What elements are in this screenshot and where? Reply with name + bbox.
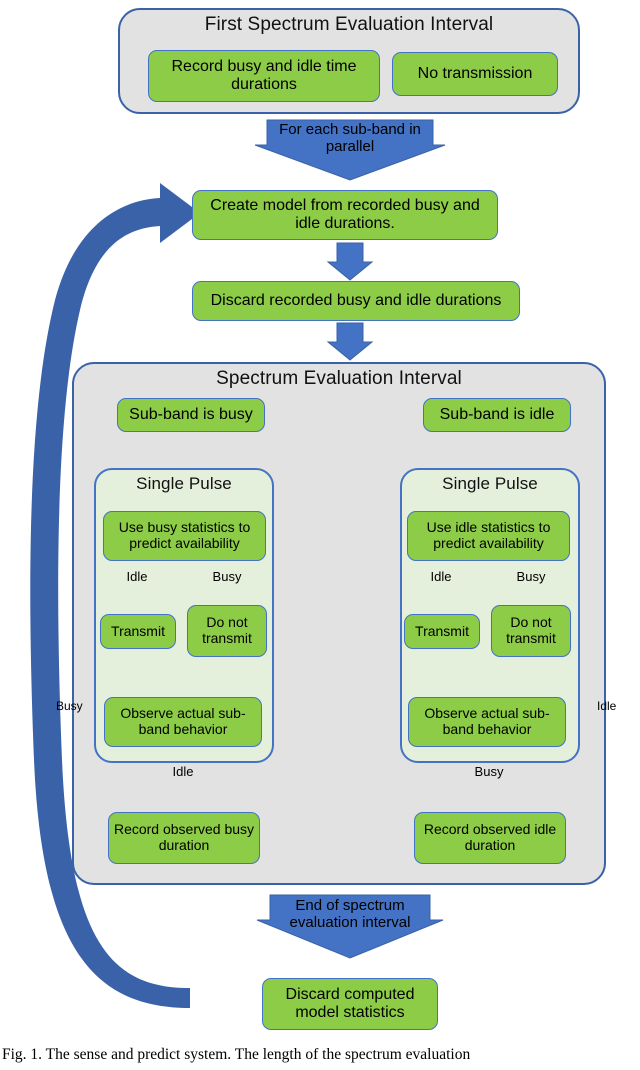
- subband-is-busy-box[interactable]: Sub-band is busy: [117, 398, 265, 432]
- busy-single-pulse-title: Single Pulse: [94, 474, 274, 494]
- for-each-subband-block-arrow: [255, 120, 445, 180]
- first-interval-title: First Spectrum Evaluation Interval: [118, 14, 580, 36]
- end-of-interval-label: End of spectrum evaluation interval: [266, 898, 434, 932]
- arrow-create-to-discard: [328, 243, 372, 280]
- use-idle-statistics-box[interactable]: Use idle statistics to predict availabil…: [407, 511, 570, 561]
- flowchart-diagram: .ar{fill:#4472C4;stroke:#3A62A8;stroke-w…: [0, 0, 640, 1070]
- idle-single-pulse-title: Single Pulse: [400, 474, 580, 494]
- figure-caption: Fig. 1. The sense and predict system. Th…: [0, 1046, 640, 1064]
- busy-feedback-label: Busy: [56, 699, 83, 713]
- idle-feedback-label: Idle: [597, 699, 616, 713]
- end-of-interval-block-arrow: [257, 895, 443, 958]
- busy-do-not-transmit-box[interactable]: Do not transmit: [187, 605, 267, 657]
- idle-transmit-box[interactable]: Transmit: [404, 614, 480, 649]
- use-busy-statistics-box[interactable]: Use busy statistics to predict availabil…: [103, 511, 266, 561]
- arrow-discard-to-interval: [328, 323, 372, 360]
- no-transmission-box[interactable]: No transmission: [392, 52, 558, 96]
- record-observed-busy-duration-box[interactable]: Record observed busy duration: [108, 812, 260, 864]
- for-each-subband-label: For each sub-band in parallel: [262, 122, 438, 156]
- busy-observe-behavior-box[interactable]: Observe actual sub-band behavior: [104, 697, 262, 747]
- idle-do-not-transmit-box[interactable]: Do not transmit: [491, 605, 571, 657]
- busy-transmit-box[interactable]: Transmit: [100, 614, 176, 649]
- discard-computed-stats-box[interactable]: Discard computed model statistics: [262, 978, 438, 1030]
- discard-recorded-box[interactable]: Discard recorded busy and idle durations: [192, 281, 520, 321]
- subband-is-idle-box[interactable]: Sub-band is idle: [423, 398, 571, 432]
- record-observed-idle-duration-box[interactable]: Record observed idle duration: [414, 812, 566, 864]
- idle-observe-behavior-box[interactable]: Observe actual sub-band behavior: [408, 697, 566, 747]
- create-model-box[interactable]: Create model from recorded busy and idle…: [192, 190, 498, 240]
- spectrum-interval-title: Spectrum Evaluation Interval: [72, 368, 606, 390]
- record-busy-idle-box[interactable]: Record busy and idle time durations: [148, 50, 380, 102]
